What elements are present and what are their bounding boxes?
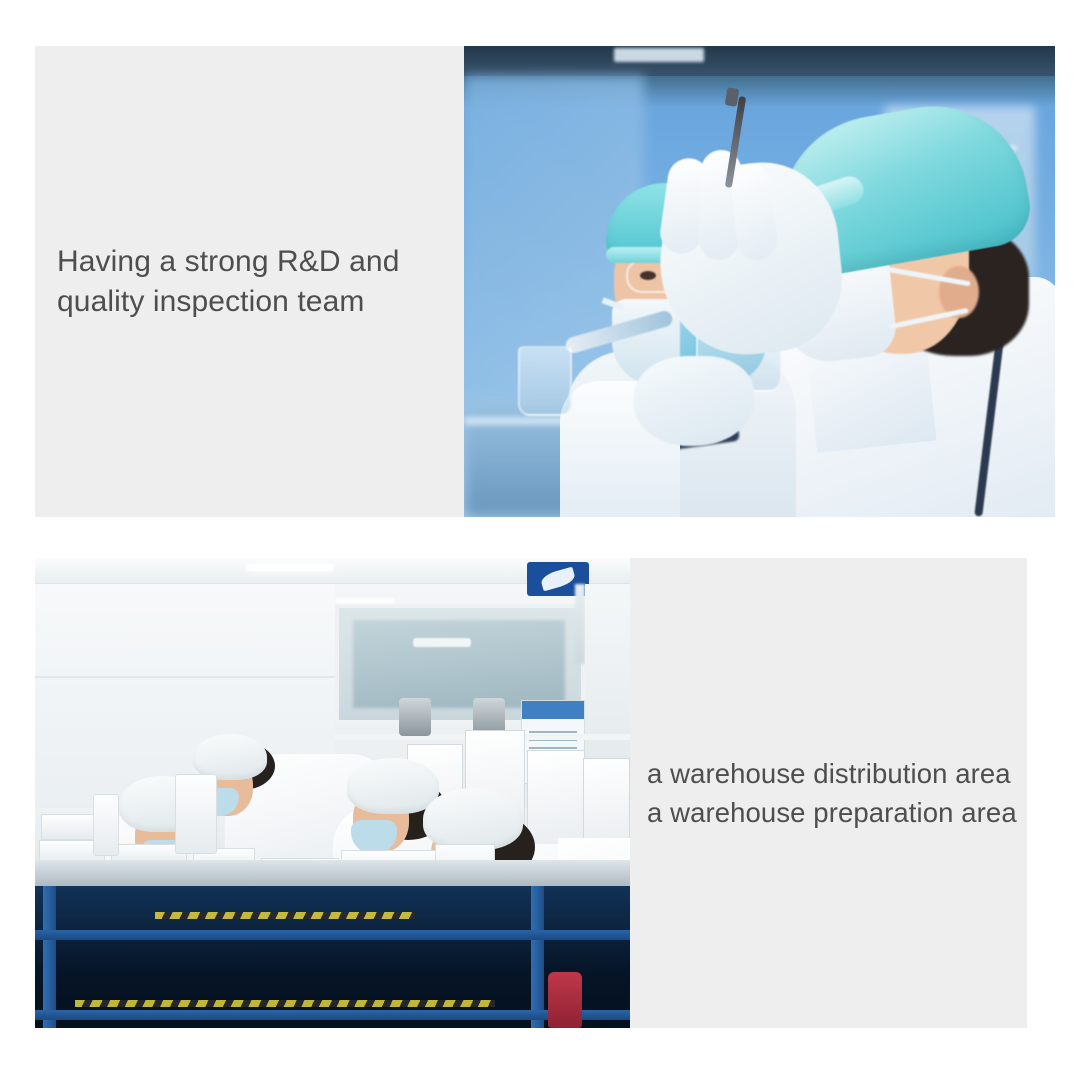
ceiling-light-icon (614, 48, 704, 62)
bottom-caption-line-1: a warehouse distribution area (647, 754, 1021, 793)
top-caption-line-2: quality inspection team (57, 282, 454, 322)
top-caption-panel: Having a strong R&D and quality inspecti… (35, 46, 464, 517)
worker-4-hairnet (423, 788, 523, 850)
warehouse-window-reflection (413, 638, 471, 647)
packing-table (35, 860, 630, 1028)
warehouse-hanging-cable (575, 584, 585, 664)
table-leg-left (43, 886, 56, 1028)
warehouse-window-light-icon (335, 598, 395, 604)
worker-red-shoe (548, 972, 582, 1028)
table-leg-right (531, 886, 544, 1028)
poster-page: Having a strong R&D and quality inspecti… (0, 0, 1080, 1080)
bottom-caption-panel: a warehouse distribution area a warehous… (630, 558, 1027, 1028)
warehouse-wall-seam (35, 676, 335, 678)
lab-photo (464, 46, 1055, 517)
floor-hazard-stripe-1 (155, 912, 415, 919)
table-top-surface (35, 860, 630, 886)
table-bottle-2 (93, 794, 119, 856)
table-rail-middle (35, 930, 630, 940)
warehouse-photo (35, 558, 630, 1028)
bottom-section: a warehouse distribution area a warehous… (35, 558, 1027, 1028)
warehouse-window-inner (353, 620, 565, 708)
top-caption-line-1: Having a strong R&D and (57, 242, 454, 282)
table-bottle-1 (175, 774, 217, 854)
bottom-caption-line-2: a warehouse preparation area (647, 793, 1021, 832)
top-section: Having a strong R&D and quality inspecti… (35, 46, 1055, 517)
worker-left-eye-left (640, 271, 656, 280)
lab-lower-hand (634, 356, 754, 446)
floor-hazard-stripe-2 (75, 1000, 495, 1007)
table-rail-bottom (35, 1010, 630, 1020)
warehouse-ceiling-light-icon (247, 564, 333, 571)
lab-small-beaker (518, 346, 572, 416)
